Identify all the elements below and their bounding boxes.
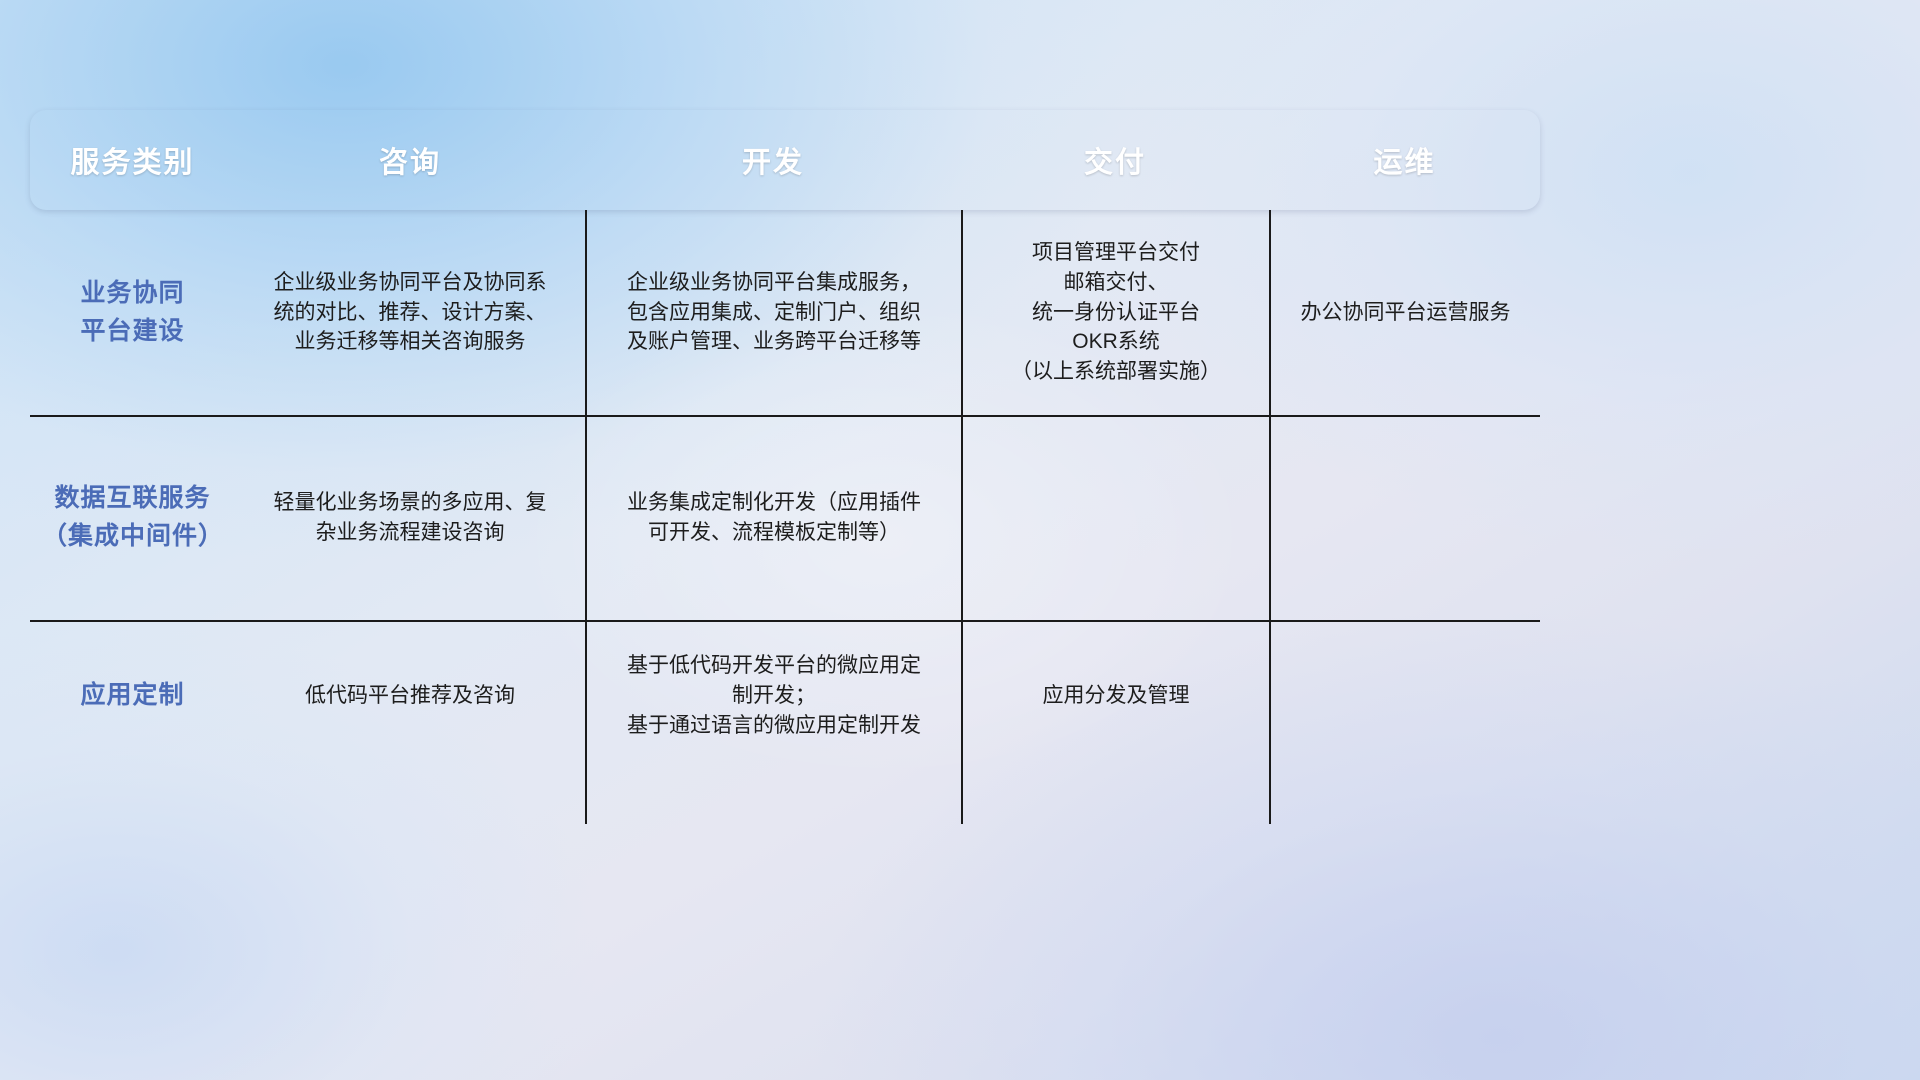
table-row: 应用定制 低代码平台推荐及咨询 基于低代码开发平台的微应用定 制开发； 基于通过…: [30, 620, 1540, 772]
cell-consulting: 企业级业务协同平台及协同系 统的对比、推荐、设计方案、 业务迁移等相关咨询服务: [235, 210, 585, 415]
column-header-operations: 运维: [1269, 110, 1540, 210]
cell-operations: [1269, 620, 1540, 772]
cell-operations: 办公协同平台运营服务: [1269, 210, 1540, 415]
row-category-label: 应用定制: [30, 620, 235, 772]
cell-operations: [1269, 415, 1540, 620]
column-header-development: 开发: [585, 110, 961, 210]
table-body: 业务协同 平台建设 企业级业务协同平台及协同系 统的对比、推荐、设计方案、 业务…: [30, 210, 1540, 824]
column-header-service-category: 服务类别: [30, 110, 235, 210]
row-category-label: 数据互联服务 （集成中间件）: [30, 415, 235, 620]
cell-consulting: 低代码平台推荐及咨询: [235, 620, 585, 772]
table-row: 数据互联服务 （集成中间件） 轻量化业务场景的多应用、复 杂业务流程建设咨询 业…: [30, 415, 1540, 620]
cell-consulting: 轻量化业务场景的多应用、复 杂业务流程建设咨询: [235, 415, 585, 620]
footer-rule-delivery: [961, 772, 1269, 824]
footer-rule-operations: [1269, 772, 1540, 824]
cell-delivery: [961, 415, 1269, 620]
column-header-delivery: 交付: [961, 110, 1269, 210]
row-category-label: 业务协同 平台建设: [30, 210, 235, 415]
table-row: 业务协同 平台建设 企业级业务协同平台及协同系 统的对比、推荐、设计方案、 业务…: [30, 210, 1540, 415]
footer-rule-spacer-category: [30, 772, 235, 824]
table-footer-rules: [30, 772, 1540, 824]
cell-development: 业务集成定制化开发（应用插件 可开发、流程模板定制等）: [585, 415, 961, 620]
footer-rule-development: [585, 772, 961, 824]
service-matrix-table: 服务类别 咨询 开发 交付 运维 业务协同 平台建设 企业级业务协同平台及协同系…: [30, 110, 1540, 824]
cell-development: 基于低代码开发平台的微应用定 制开发； 基于通过语言的微应用定制开发: [585, 620, 961, 772]
cell-delivery: 项目管理平台交付 邮箱交付、 统一身份认证平台 OKR系统 （以上系统部署实施）: [961, 210, 1269, 415]
footer-rule-spacer-consulting: [235, 772, 585, 824]
cell-development: 企业级业务协同平台集成服务， 包含应用集成、定制门户、组织 及账户管理、业务跨平…: [585, 210, 961, 415]
column-header-consulting: 咨询: [235, 110, 585, 210]
table-header-row: 服务类别 咨询 开发 交付 运维: [30, 110, 1540, 210]
cell-delivery: 应用分发及管理: [961, 620, 1269, 772]
